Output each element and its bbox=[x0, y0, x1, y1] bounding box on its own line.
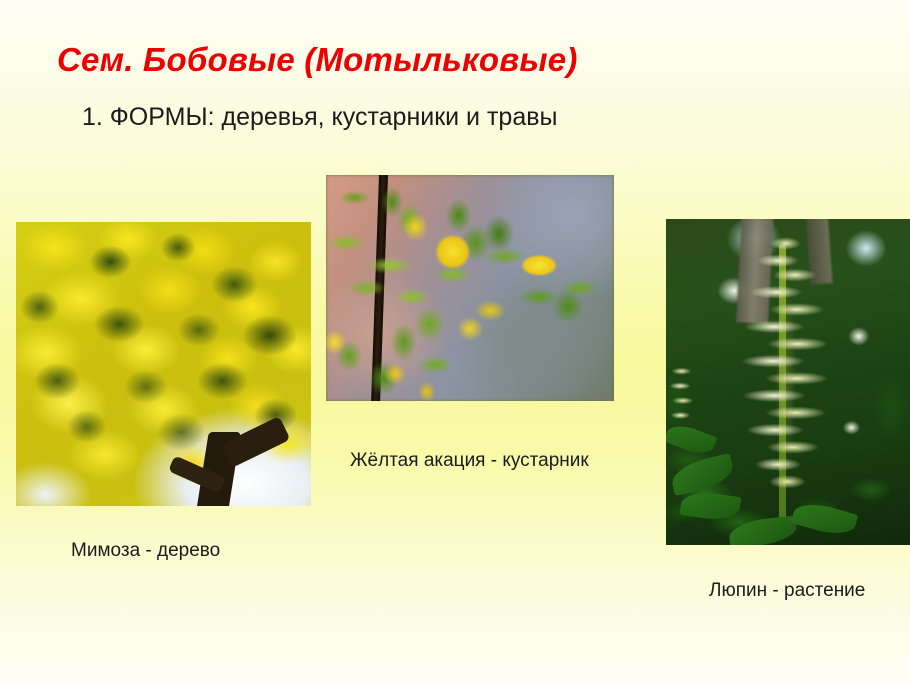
caption-lupine: Люпин - растение bbox=[709, 580, 865, 602]
caption-acacia: Жёлтая акация - кустарник bbox=[350, 450, 589, 472]
page-title: Сем. Бобовые (Мотыльковые) bbox=[57, 41, 578, 79]
lupine-flower-spike bbox=[739, 232, 832, 519]
photo-acacia bbox=[326, 175, 614, 401]
slide-subtitle: 1. ФОРМЫ: деревья, кустарники и травы bbox=[82, 103, 557, 132]
caption-mimosa: Мимоза - дерево bbox=[71, 540, 220, 562]
mimosa-branch bbox=[168, 456, 226, 494]
acacia-flower-layer bbox=[326, 175, 614, 401]
slide-canvas: Сем. Бобовые (Мотыльковые) 1. ФОРМЫ: дер… bbox=[0, 0, 910, 683]
mimosa-trunk-layer bbox=[16, 222, 311, 506]
photo-lupine bbox=[666, 219, 910, 545]
photo-mimosa bbox=[16, 222, 311, 506]
